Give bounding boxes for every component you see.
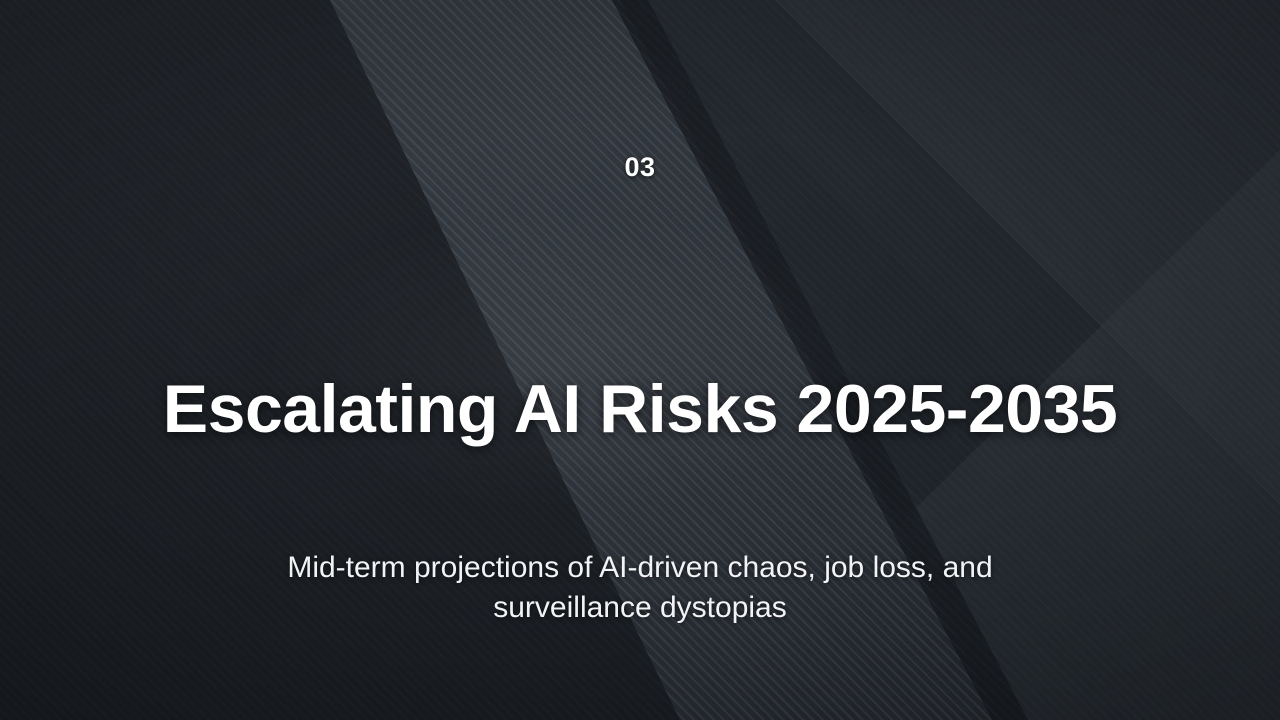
slide-subtitle: Mid-term projections of AI-driven chaos,… — [240, 548, 1040, 627]
slide-number: 03 — [0, 152, 1280, 183]
slide-content: 03 Escalating AI Risks 2025-2035 Mid-ter… — [0, 0, 1280, 720]
slide-title: Escalating AI Risks 2025-2035 — [100, 372, 1180, 447]
presentation-slide: 03 Escalating AI Risks 2025-2035 Mid-ter… — [0, 0, 1280, 720]
